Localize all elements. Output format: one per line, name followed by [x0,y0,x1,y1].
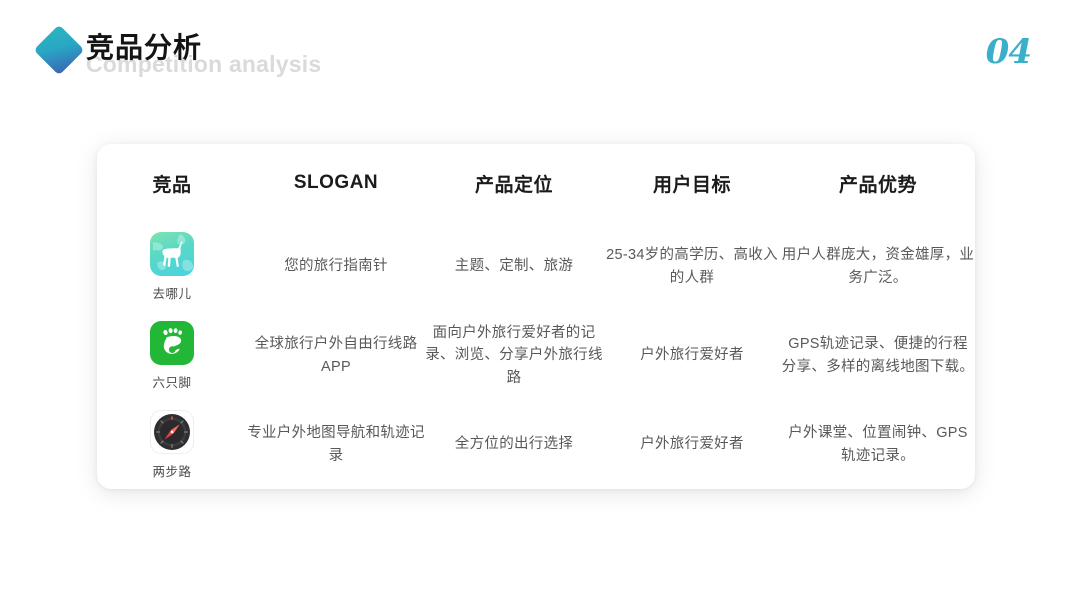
diamond-icon [34,25,85,76]
column-header-target: 用户目标 [603,144,781,222]
table-header-row: 竞品 SLOGAN 产品定位 用户目标 产品优势 [97,144,975,222]
footprint-icon [150,321,194,365]
slide-header: Competition analysis 竞品分析 04 [0,0,1067,110]
cell-advantage: 用户人群庞大，资金雄厚，业务广泛。 [781,222,975,311]
table-header: 竞品 SLOGAN 产品定位 用户目标 产品优势 [97,144,975,222]
table-row: 两步路 专业户外地图导航和轨迹记录 全方位的出行选择 户外旅行爱好者 户外课堂、… [97,400,975,489]
page-number: 04 [986,32,1031,72]
column-header-position: 产品定位 [425,144,603,222]
cell-position: 主题、定制、旅游 [425,222,603,311]
cell-advantage: 户外课堂、位置闹钟、GPS轨迹记录。 [781,400,975,489]
cell-target: 户外旅行爱好者 [603,400,781,489]
header-title-group: Competition analysis 竞品分析 [86,26,586,86]
cell-target: 户外旅行爱好者 [603,311,781,400]
brand-cell-liangbulu: 两步路 [97,400,247,489]
column-header-slogan: SLOGAN [247,144,425,222]
cell-position: 全方位的出行选择 [425,400,603,489]
brand-cell-liuzhijiao: 六只脚 [97,311,247,400]
app-name: 六只脚 [97,372,247,391]
cell-slogan: 您的旅行指南针 [247,222,425,311]
column-header-advantage: 产品优势 [781,144,975,222]
camel-icon [150,232,194,276]
table-row: 去哪儿 您的旅行指南针 主题、定制、旅游 25-34岁的高学历、高收入的人群 用… [97,222,975,311]
compass-icon [150,410,194,454]
comparison-card: 竞品 SLOGAN 产品定位 用户目标 产品优势 [97,144,975,489]
table-body: 去哪儿 您的旅行指南针 主题、定制、旅游 25-34岁的高学历、高收入的人群 用… [97,222,975,489]
comparison-table: 竞品 SLOGAN 产品定位 用户目标 产品优势 [97,144,975,489]
brand-cell-qunar: 去哪儿 [97,222,247,311]
table-row: 六只脚 全球旅行户外自由行线路APP 面向户外旅行爱好者的记录、浏览、分享户外旅… [97,311,975,400]
cell-slogan: 专业户外地图导航和轨迹记录 [247,400,425,489]
cell-position: 面向户外旅行爱好者的记录、浏览、分享户外旅行线路 [425,311,603,400]
app-name: 去哪儿 [97,283,247,302]
app-name: 两步路 [97,461,247,480]
cell-advantage: GPS轨迹记录、便捷的行程分享、多样的离线地图下载。 [781,311,975,400]
page-title: 竞品分析 [86,26,202,66]
column-header-brand: 竞品 [97,144,247,222]
cell-slogan: 全球旅行户外自由行线路APP [247,311,425,400]
cell-target: 25-34岁的高学历、高收入的人群 [603,222,781,311]
